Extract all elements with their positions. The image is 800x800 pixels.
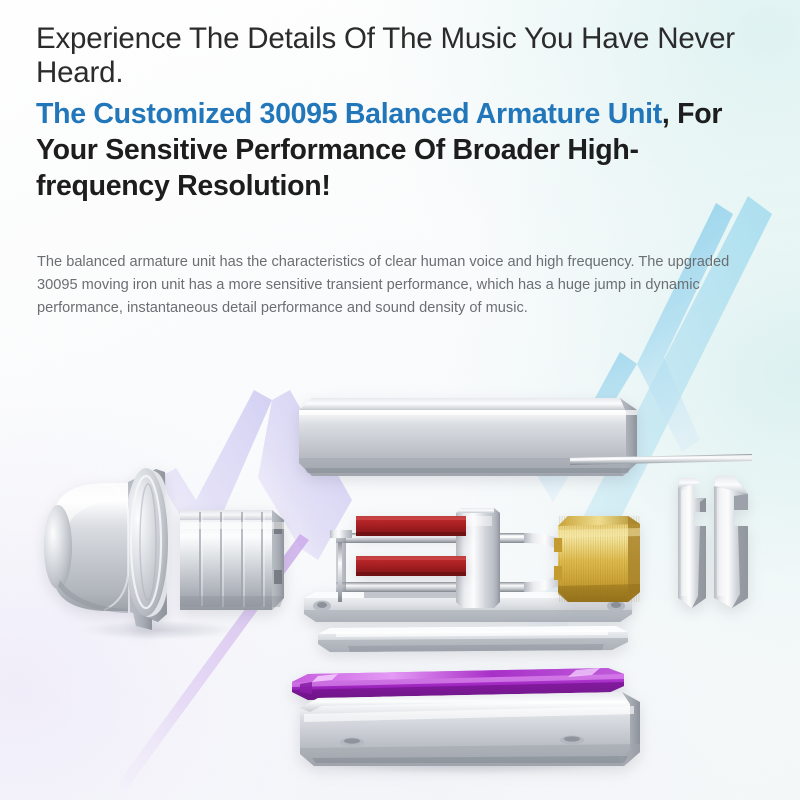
magnet-bar-lower — [356, 556, 466, 576]
terminal-pin-right — [714, 476, 748, 608]
subtitle-accent: The Customized 30095 Balanced Armature U… — [36, 98, 662, 130]
bottom-housing — [300, 692, 640, 766]
subtitle: The Customized 30095 Balanced Armature U… — [36, 97, 726, 204]
nozzle-sleeve — [180, 510, 284, 610]
support-plate — [318, 626, 628, 652]
magnet-bar-upper — [356, 516, 466, 536]
exploded-driver-diagram — [0, 330, 800, 800]
shadow-nozzle — [68, 619, 252, 641]
product-feature-page: Experience The Details Of The Music You … — [0, 0, 800, 800]
page-title: Experience The Details Of The Music You … — [36, 22, 742, 90]
body-paragraph: The balanced armature unit has the chara… — [37, 251, 751, 320]
sound-nozzle — [44, 468, 170, 630]
terminal-pin-left — [678, 478, 706, 608]
headline-block: Experience The Details Of The Music You … — [36, 22, 752, 204]
copper-coil — [554, 516, 640, 602]
